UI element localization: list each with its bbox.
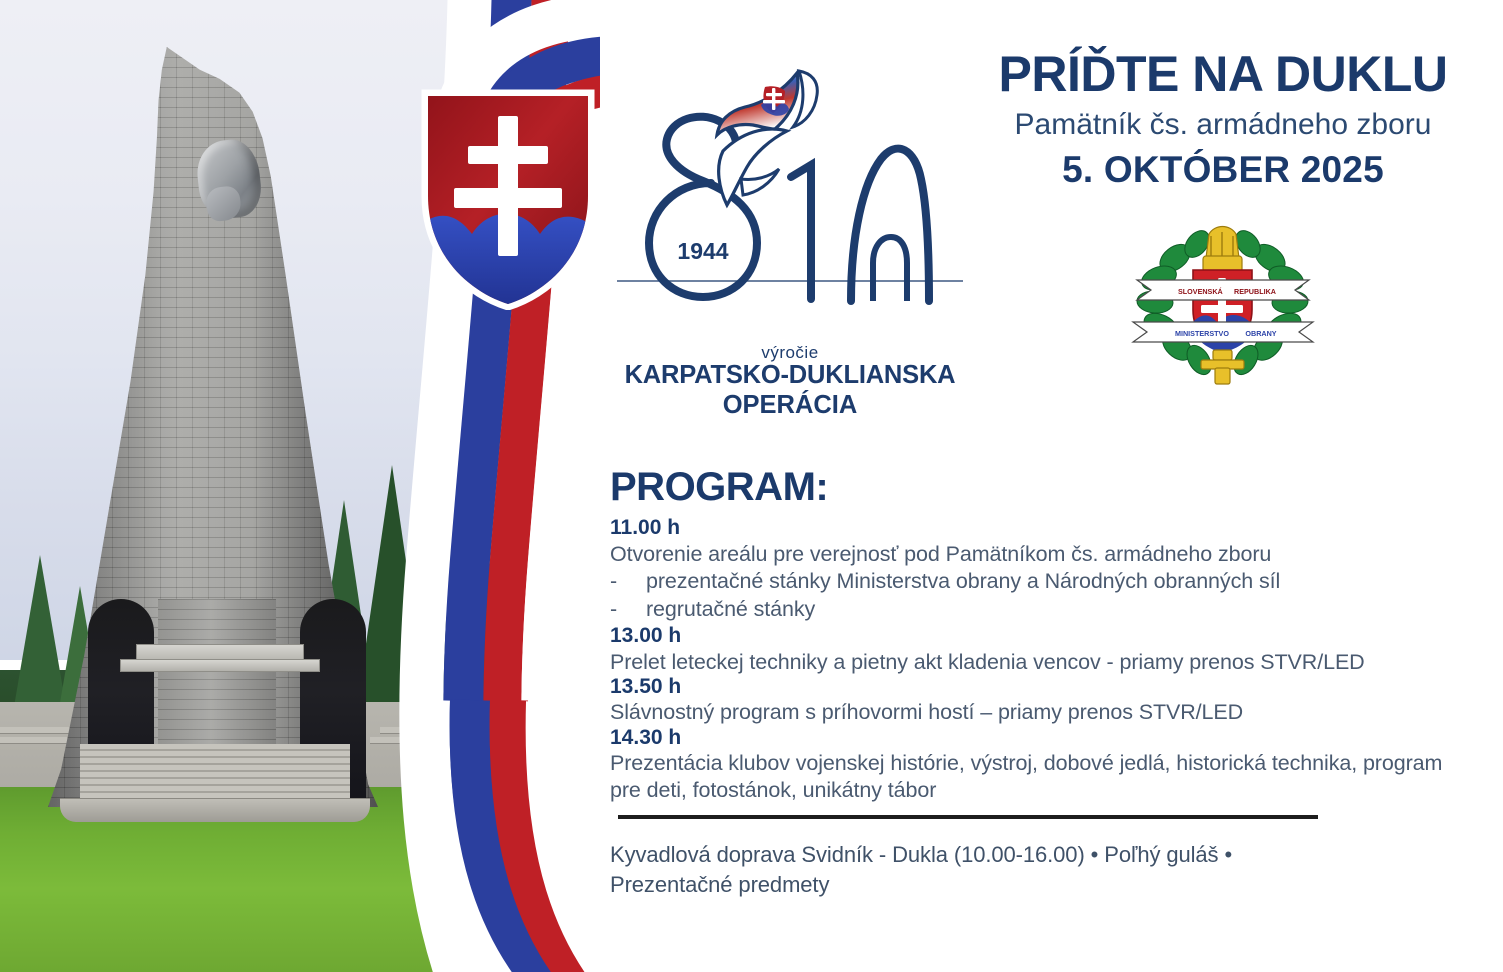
poster-content: 1944 výročie KARPATSKO-DUKLIANSKA OPERÁC… — [560, 0, 1503, 972]
page-subtitle: Pamätník čs. armádneho zboru — [958, 105, 1488, 144]
program-slot-time: 13.00 h — [610, 624, 1490, 649]
emblem-ribbon-top-text: SLOVENSKÁ — [1178, 287, 1223, 296]
list-item: -regrutačné stánky — [610, 595, 1490, 623]
monument-plinth — [60, 798, 370, 822]
program-slot-description: Slávnostný program s príhovormi hostí – … — [610, 699, 1490, 725]
event-date: 5. OKTÓBER 2025 — [958, 148, 1488, 192]
tree-icon — [446, 517, 518, 732]
emblem-ribbon-top-text-2: REPUBLIKA — [1234, 287, 1276, 296]
monument-lintel-lower — [120, 659, 320, 672]
program-slot-description: Otvorenie areálu pre verejnosť pod Pamät… — [610, 541, 1490, 567]
poster-root: 1944 výročie KARPATSKO-DUKLIANSKA OPERÁC… — [0, 0, 1503, 972]
logo-vyrocie-label: výročie — [615, 343, 965, 363]
logo-line1: KARPATSKO-DUKLIANSKA — [609, 361, 971, 390]
ministry-of-defence-emblem: SLOVENSKÁ REPUBLIKA MINISTERSTVO OBRANY — [1115, 218, 1330, 388]
program-slot-description: Prezentácia klubov vojenskej histórie, v… — [610, 750, 1455, 802]
emblem-ribbon-bottom-text: MINISTERSTVO — [1175, 329, 1229, 338]
program-slot-time: 13.50 h — [610, 675, 1490, 700]
monument-stairs — [80, 744, 350, 798]
footnote-text: Kyvadlová doprava Svidník - Dukla (10.00… — [610, 840, 1300, 899]
section-divider — [618, 815, 1318, 819]
program-slot-time: 11.00 h — [610, 516, 1490, 541]
dash-icon: - — [610, 567, 620, 595]
logo-line2: OPERÁCIA — [615, 391, 965, 420]
emblem-ribbon-bottom-text-2: OBRANY — [1245, 329, 1276, 338]
list-item-label: prezentačné stánky Ministerstva obrany a… — [646, 567, 1280, 595]
program-slot: 13.00 h Prelet leteckej techniky a pietn… — [610, 624, 1490, 675]
program-slot-description: Prelet leteckej techniky a pietny akt kl… — [610, 649, 1490, 675]
anniversary-logo: 1944 výročie KARPATSKO-DUKLIANSKA OPERÁC… — [615, 55, 965, 375]
stair-step — [380, 727, 520, 734]
stair-step — [370, 737, 520, 744]
page-title: PRÍĎTE NA DUKLU — [958, 48, 1488, 101]
program-slot: 11.00 h Otvorenie areálu pre verejnosť p… — [610, 516, 1490, 624]
program-section: PROGRAM: 11.00 h Otvorenie areálu pre ve… — [610, 465, 1490, 803]
dash-icon: - — [610, 595, 620, 623]
program-heading: PROGRAM: — [610, 465, 1490, 510]
program-slot-time: 14.30 h — [610, 726, 1490, 751]
list-item-label: regrutačné stánky — [646, 595, 815, 623]
program-slot-bullets: -prezentačné stánky Ministerstva obrany … — [610, 567, 1490, 624]
title-block: PRÍĎTE NA DUKLU Pamätník čs. armádneho z… — [958, 48, 1488, 192]
program-slot: 14.30 h Prezentácia klubov vojenskej his… — [610, 726, 1490, 803]
program-slot: 13.50 h Slávnostný program s príhovormi … — [610, 675, 1490, 726]
list-item: -prezentačné stánky Ministerstva obrany … — [610, 567, 1490, 595]
logo-year-text: 1944 — [677, 238, 728, 264]
